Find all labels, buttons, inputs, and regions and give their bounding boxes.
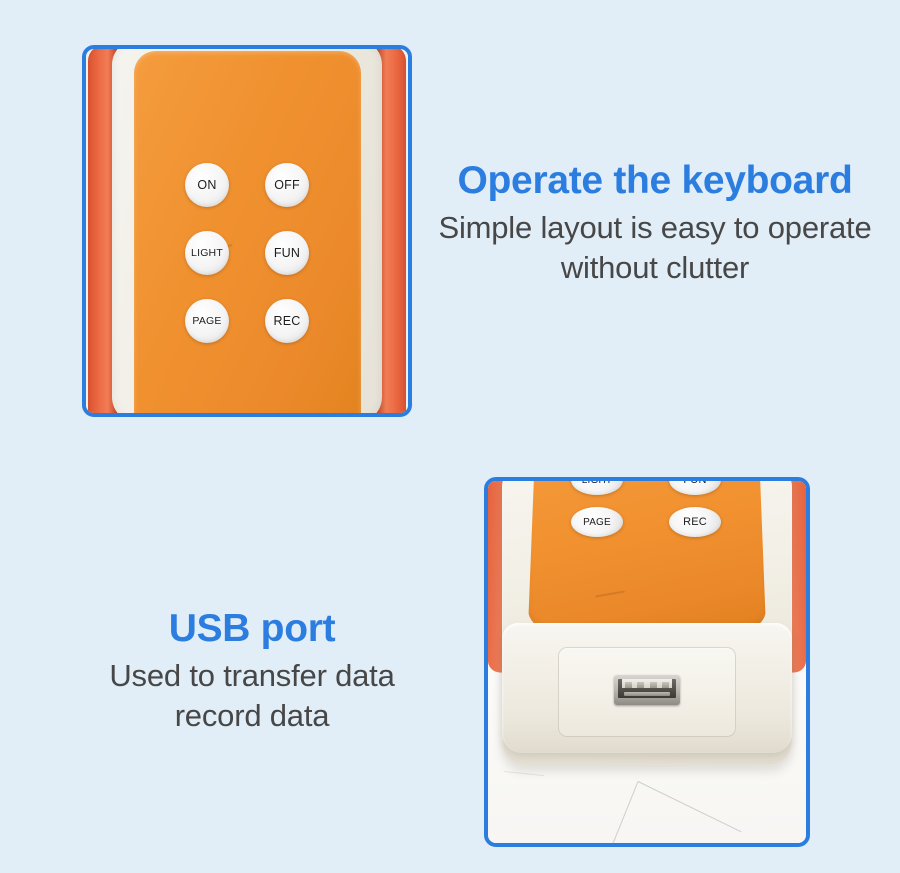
device-keypad: ON OFF LIGHT FUN PAGE REC bbox=[185, 163, 309, 343]
operate-keyboard-headline: Operate the keyboard bbox=[420, 160, 890, 202]
remote-usb-photo: LIGHT FUN PAGE REC bbox=[488, 481, 806, 843]
usb-port-subline-1: Used to transfer data bbox=[28, 656, 476, 696]
device-keypad: LIGHT FUN PAGE REC bbox=[571, 481, 723, 537]
usb-pin bbox=[625, 682, 632, 688]
device-key-fun: FUN bbox=[265, 231, 309, 275]
device-front-face bbox=[502, 623, 792, 753]
usb-lower-lip bbox=[624, 692, 670, 696]
operate-keyboard-subline-1: Simple layout is easy to operate bbox=[420, 208, 890, 248]
device-key-rec: REC bbox=[669, 507, 721, 537]
device-key-light: LIGHT bbox=[185, 231, 229, 275]
device-key-fun: FUN bbox=[669, 481, 721, 495]
device-key-page: PAGE bbox=[571, 507, 623, 537]
usb-contact-tongue bbox=[622, 679, 672, 688]
operate-keyboard-subline-2: without clutter bbox=[420, 248, 890, 288]
usb-port-icon bbox=[614, 675, 680, 705]
remote-usb-photo-frame: LIGHT FUN PAGE REC bbox=[484, 477, 810, 847]
usb-cavity bbox=[618, 679, 676, 698]
device-key-rec: REC bbox=[265, 299, 309, 343]
usb-pin bbox=[637, 682, 644, 688]
usb-recessed-panel bbox=[558, 647, 736, 737]
device-body: LIGHT FUN PAGE REC bbox=[488, 481, 806, 773]
usb-pin bbox=[650, 682, 657, 688]
usb-pin bbox=[662, 682, 669, 688]
device-key-light: LIGHT bbox=[571, 481, 623, 495]
page-canvas: ON OFF LIGHT FUN PAGE REC Operate the ke… bbox=[0, 0, 900, 873]
device-key-on: ON bbox=[185, 163, 229, 207]
device-key-off: OFF bbox=[265, 163, 309, 207]
usb-port-subline-2: record data bbox=[28, 696, 476, 736]
usb-port-headline: USB port bbox=[28, 608, 476, 650]
usb-port-text-block: USB port Used to transfer data record da… bbox=[28, 608, 476, 737]
device-key-page: PAGE bbox=[185, 299, 229, 343]
remote-front-photo: ON OFF LIGHT FUN PAGE REC bbox=[86, 49, 408, 413]
operate-keyboard-text-block: Operate the keyboard Simple layout is ea… bbox=[420, 160, 890, 289]
remote-front-photo-frame: ON OFF LIGHT FUN PAGE REC bbox=[82, 45, 412, 417]
